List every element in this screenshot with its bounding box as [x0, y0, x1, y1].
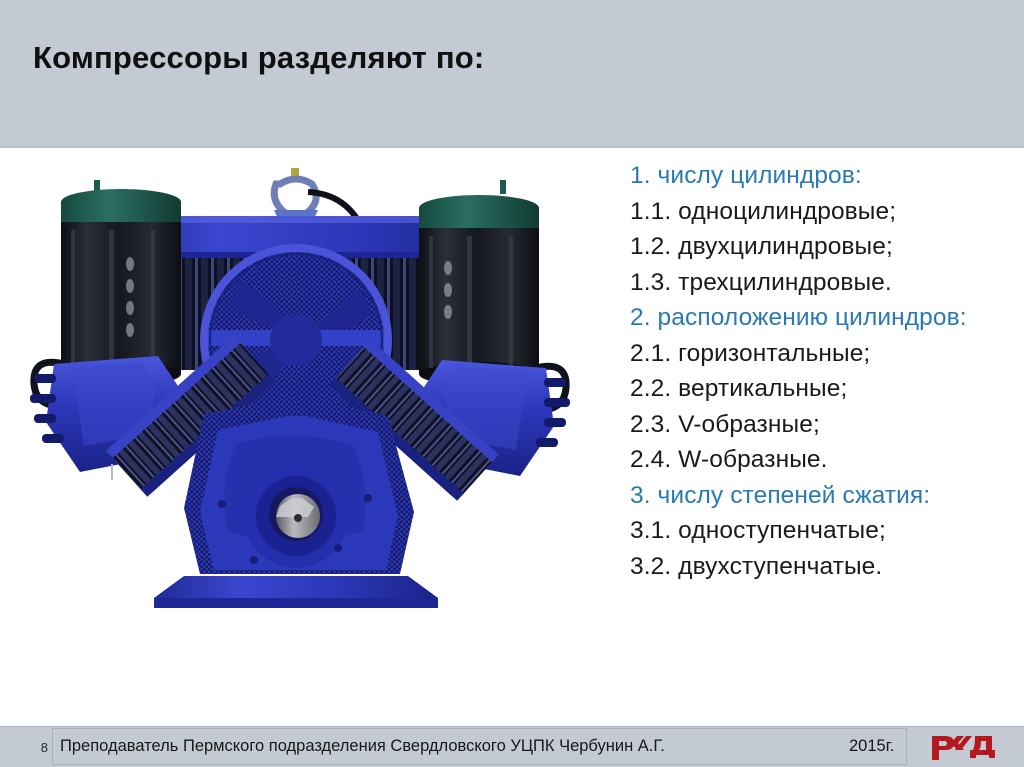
list-item: 3.2. двухступенчатые.: [630, 549, 1020, 585]
list-item: 2.3. V-образные;: [630, 407, 1020, 443]
list-item: 2. расположению цилиндров:: [630, 300, 1020, 336]
compressor-photo: [8, 168, 588, 608]
list-item: 2.1. горизонтальные;: [630, 336, 1020, 372]
air-filter-left: [61, 180, 181, 386]
base-foot: [154, 576, 438, 608]
list-item: 2.2. вертикальные;: [630, 371, 1020, 407]
slide: Компрессоры разделяют по:: [0, 0, 1024, 767]
list-item: 3. числу степеней сжатия:: [630, 478, 1020, 514]
list-item: 1.2. двухцилиндровые;: [630, 229, 1020, 265]
list-item: 3.1. одноступенчатые;: [630, 513, 1020, 549]
page-title: Компрессоры разделяют по:: [33, 40, 484, 76]
footer-author-text: Преподаватель Пермского подразделения Св…: [60, 737, 665, 756]
list-item: 2.4. W-образные.: [630, 442, 1020, 478]
crankshaft-stub: [244, 464, 348, 568]
rzd-logo-icon: [930, 730, 996, 762]
air-filter-right: [419, 180, 539, 386]
list-item: 1.1. одноцилиндровые;: [630, 194, 1020, 230]
classification-list: 1. числу цилиндров: 1.1. одноцилиндровые…: [630, 158, 1020, 584]
list-item: 1. числу цилиндров:: [630, 158, 1020, 194]
list-item: 1.3. трехцилиндровые.: [630, 265, 1020, 301]
page-number: 8: [30, 740, 48, 755]
footer-year: 2015г.: [849, 737, 894, 756]
